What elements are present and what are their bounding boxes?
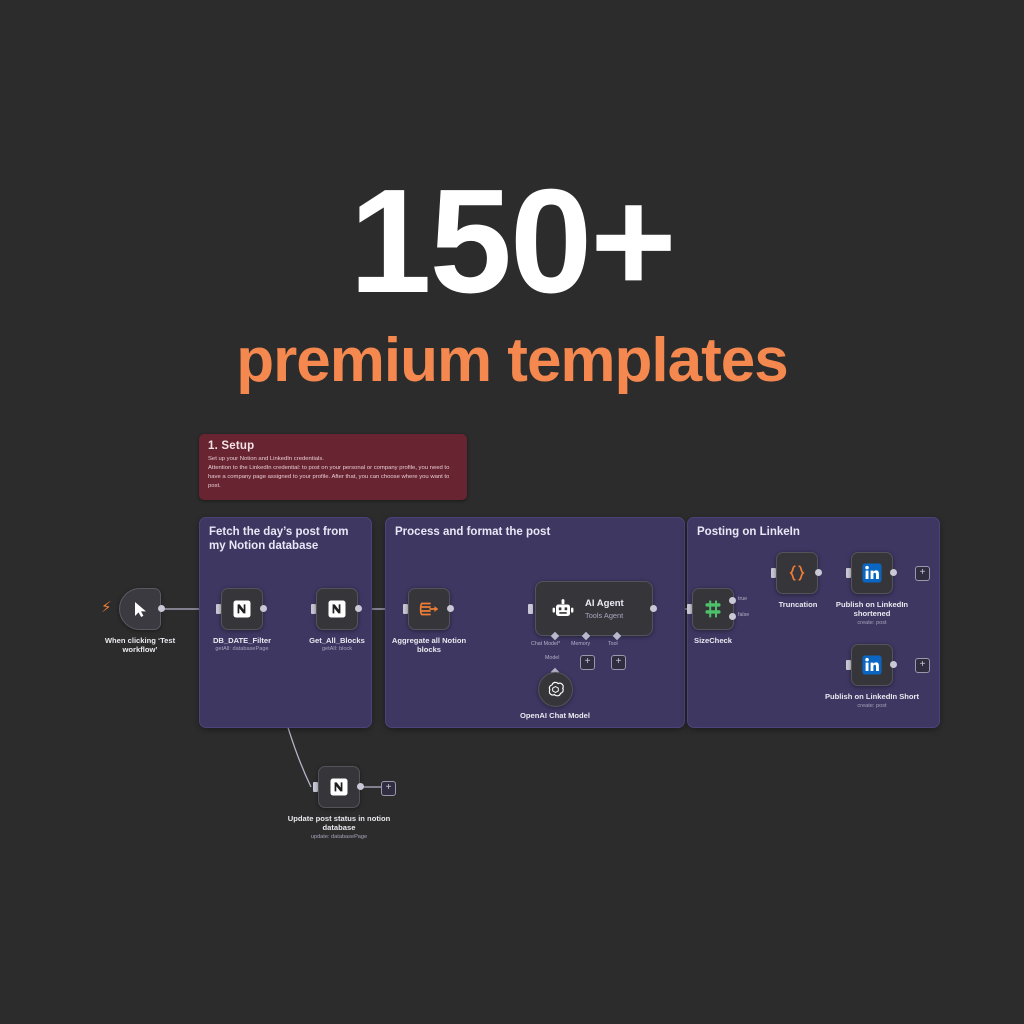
sticky-note-setup[interactable]: 1. Setup Set up your Notion and LinkedIn… xyxy=(199,434,467,500)
panel-title: Process and format the post xyxy=(395,525,675,539)
node-get-all-blocks[interactable] xyxy=(316,588,358,630)
notion-icon xyxy=(232,599,252,619)
linkedin-icon xyxy=(861,654,883,676)
code-braces-icon xyxy=(787,563,807,583)
aggregate-icon xyxy=(418,600,440,618)
add-node-button[interactable]: + xyxy=(915,566,930,581)
panel-title: Fetch the day’s post from my Notion data… xyxy=(209,525,362,554)
node-publish-linkedin-shortened[interactable] xyxy=(851,552,893,594)
node-manual-trigger[interactable] xyxy=(119,588,161,630)
node-subtitle: create: post xyxy=(816,703,928,710)
node-ai-agent[interactable]: AI Agent Tools Agent xyxy=(535,581,653,636)
node-sizecheck[interactable] xyxy=(692,588,734,630)
port-out[interactable] xyxy=(447,605,454,612)
port-label-memory: Memory xyxy=(571,641,590,647)
branch-label-true: true xyxy=(738,596,747,602)
node-subtitle: getAll: databasePage xyxy=(199,646,285,653)
port-label-model: Model xyxy=(545,655,559,661)
openai-icon xyxy=(546,680,565,699)
port-in[interactable] xyxy=(528,604,533,614)
branch-label-false: false xyxy=(738,612,749,618)
node-label: SizeCheck xyxy=(673,636,753,645)
port-label-tool: Tool xyxy=(608,641,618,647)
connection-wires xyxy=(0,0,1024,1024)
panel-title: Posting on LinkeIn xyxy=(697,525,930,539)
port-label-chat-model: Chat Model* xyxy=(531,641,560,647)
linkedin-icon xyxy=(861,562,883,584)
switch-icon xyxy=(703,599,723,619)
notion-icon xyxy=(329,777,349,797)
node-update-post-status[interactable] xyxy=(318,766,360,808)
node-subtitle: update: databasePage xyxy=(283,834,395,841)
node-label: When clicking ‘Test workflow’ xyxy=(90,636,190,655)
node-label: Publish on LinkedIn Short xyxy=(816,692,928,701)
port-out[interactable] xyxy=(260,605,267,612)
node-publish-linkedin-short[interactable] xyxy=(851,644,893,686)
workflow-canvas[interactable]: 1. Setup Set up your Notion and LinkedIn… xyxy=(0,0,1024,1024)
sticky-note-body: Set up your Notion and LinkedIn credenti… xyxy=(208,455,458,492)
port-out[interactable] xyxy=(815,569,822,576)
robot-icon xyxy=(552,599,574,619)
port-out[interactable] xyxy=(357,783,364,790)
node-subtitle: Tools Agent xyxy=(585,611,624,620)
port-out[interactable] xyxy=(890,661,897,668)
add-node-button[interactable]: + xyxy=(381,781,396,796)
node-aggregate-notion-blocks[interactable] xyxy=(408,588,450,630)
node-truncation[interactable] xyxy=(776,552,818,594)
port-out[interactable] xyxy=(890,569,897,576)
node-label: Get_All_Blocks xyxy=(294,636,380,645)
node-db-date-filter[interactable] xyxy=(221,588,263,630)
port-out[interactable] xyxy=(355,605,362,612)
node-openai-chat-model[interactable] xyxy=(538,672,573,707)
add-memory-button[interactable]: + xyxy=(580,655,595,670)
node-label: Update post status in notion database xyxy=(283,814,395,833)
notion-icon xyxy=(327,599,347,619)
node-label: DB_DATE_Filter xyxy=(199,636,285,645)
node-label: OpenAI Chat Model xyxy=(505,711,605,720)
port-out-true[interactable] xyxy=(729,597,736,604)
sticky-note-title: 1. Setup xyxy=(208,440,458,452)
port-out[interactable] xyxy=(158,605,165,612)
node-subtitle: create: post xyxy=(823,620,921,627)
cursor-icon xyxy=(133,601,148,618)
add-tool-button[interactable]: + xyxy=(611,655,626,670)
add-node-button[interactable]: + xyxy=(915,658,930,673)
node-subtitle: getAll: block xyxy=(294,646,380,653)
port-out[interactable] xyxy=(650,605,657,612)
port-out-false[interactable] xyxy=(729,613,736,620)
node-label: Publish on LinkedIn shortened xyxy=(823,600,921,619)
node-label: Aggregate all Notion blocks xyxy=(386,636,472,655)
poster-stage: 150+ premium templates xyxy=(0,0,1024,1024)
node-label: AI Agent xyxy=(585,598,624,609)
lightning-bolt-icon: ⚡ xyxy=(101,600,112,615)
